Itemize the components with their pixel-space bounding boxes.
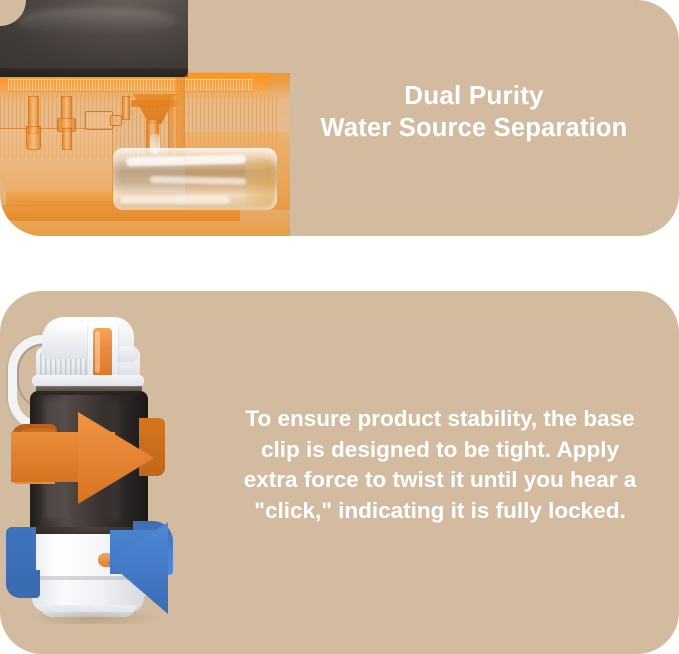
headline-line-2: Water Source Separation — [289, 112, 659, 146]
orange-arrow-band-right — [139, 418, 165, 476]
xray-seal-band — [8, 79, 253, 92]
cap-side-tab — [117, 346, 139, 362]
body-copy-line-1: To ensure product stability, the base — [218, 404, 662, 435]
water-slab-tint — [245, 160, 275, 206]
orange-latch-highlight — [95, 331, 100, 373]
dark-cap-sheen — [16, 8, 176, 34]
xray-valve-box — [85, 111, 113, 130]
body-copy-line-4: "click," indicating it is fully locked. — [218, 496, 662, 527]
cutaway-xray-illustration — [0, 0, 300, 236]
xray-valve-nub — [110, 115, 122, 126]
cap-under-shadow — [36, 386, 142, 395]
xray-post-b-stem — [62, 128, 72, 150]
infographic-page: Dual Purity Water Source Separation — [0, 0, 679, 654]
dark-cap-edge — [0, 68, 188, 77]
blue-arrow-tail-curve — [6, 570, 40, 598]
body-copy-line-2: clip is designed to be tight. Apply — [218, 435, 662, 466]
body-copy-line-3: extra force to twist it until you hear a — [218, 465, 662, 496]
dark-cap-shell — [0, 0, 188, 77]
body-copy-base-clip-instructions: To ensure product stability, the base cl… — [218, 404, 662, 526]
bottle-ground-shadow — [28, 612, 158, 624]
headline-line-1: Dual Purity — [289, 78, 659, 112]
xray-post-a-foot — [26, 126, 41, 150]
xray-post-c — [122, 96, 130, 120]
water-highlight-bottom — [120, 196, 230, 204]
panel-top-dual-purity: Dual Purity Water Source Separation — [0, 0, 679, 236]
headline-dual-purity: Dual Purity Water Source Separation — [289, 78, 659, 146]
